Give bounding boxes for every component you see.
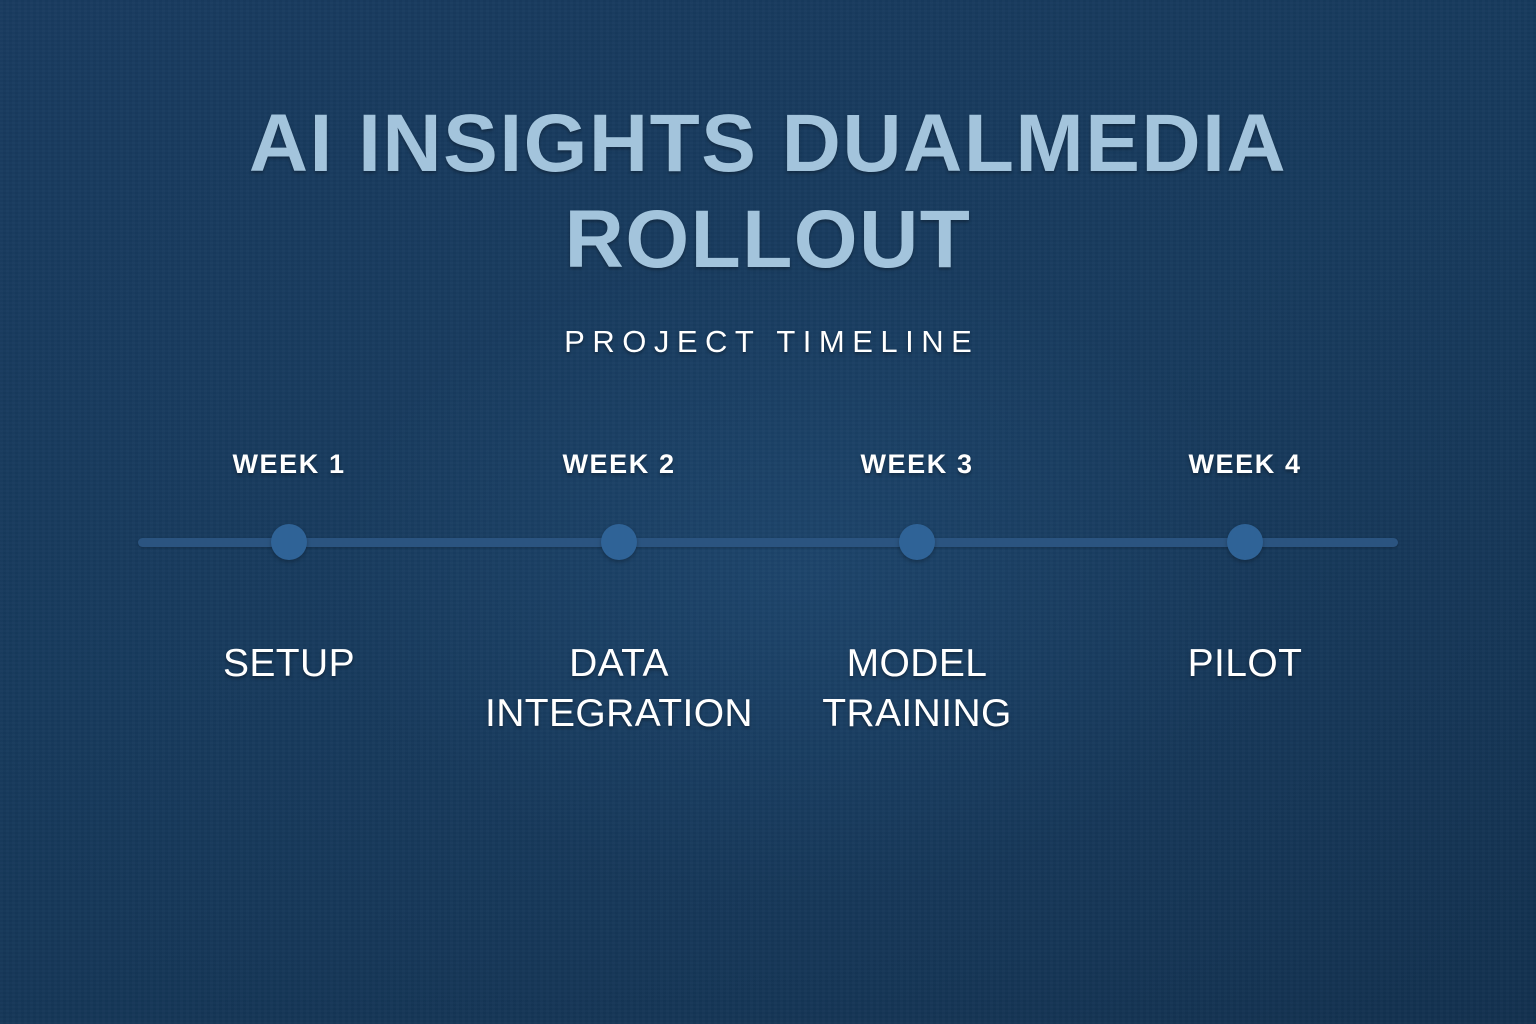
milestone-week-label: WEEK 3 bbox=[767, 447, 1067, 481]
timeline-dot-icon[interactable] bbox=[1227, 524, 1263, 560]
milestone-phase-label: DATA INTEGRATION bbox=[469, 639, 769, 739]
timeline-dot-icon[interactable] bbox=[271, 524, 307, 560]
timeline-dot-icon[interactable] bbox=[899, 524, 935, 560]
timeline-dot-icon[interactable] bbox=[601, 524, 637, 560]
timeline-axis-line bbox=[138, 538, 1398, 547]
milestone-phase-label: PILOT bbox=[1095, 639, 1395, 689]
slide-canvas: AI INSIGHTS DUALMEDIA ROLLOUT PROJECT TI… bbox=[0, 0, 1536, 1024]
milestone-phase-label: MODEL TRAINING bbox=[767, 639, 1067, 739]
milestone-week-label: WEEK 2 bbox=[469, 447, 769, 481]
timeline: WEEK 1 SETUP WEEK 2 DATA INTEGRATION WEE… bbox=[0, 0, 1536, 1024]
milestone-week-label: WEEK 1 bbox=[139, 447, 439, 481]
milestone-week-label: WEEK 4 bbox=[1095, 447, 1395, 481]
milestone-phase-label: SETUP bbox=[139, 639, 439, 689]
